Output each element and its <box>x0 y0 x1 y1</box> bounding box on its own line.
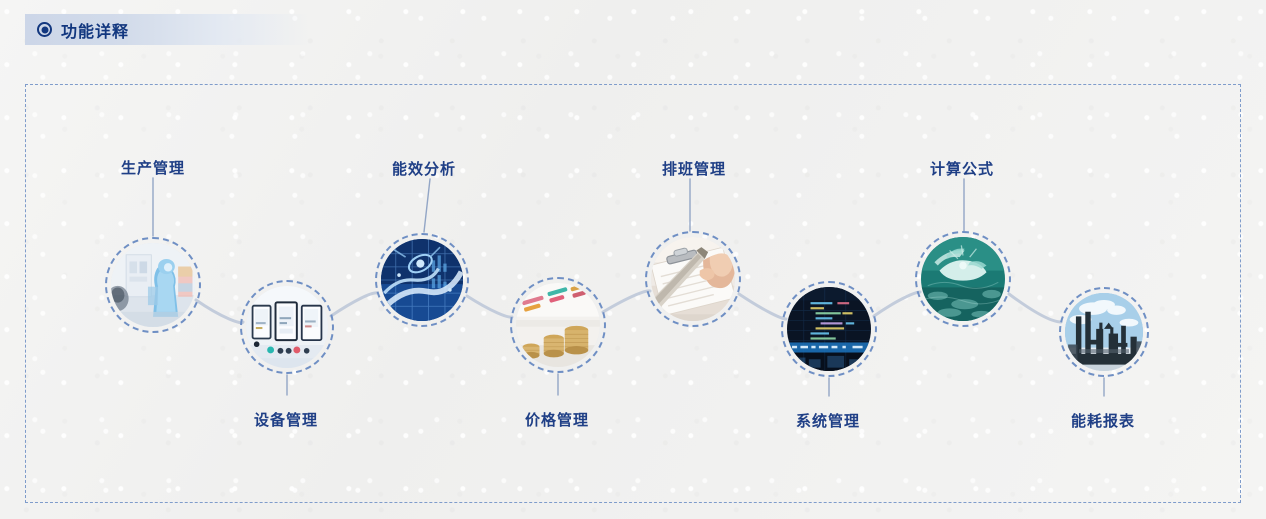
industrial-chimneys-photo <box>1065 293 1143 371</box>
factory-worker-photo <box>111 243 195 327</box>
code-terminal-photo <box>787 287 871 371</box>
node-label-system-management: 系统管理 <box>796 410 860 431</box>
node-label-price-management: 价格管理 <box>525 409 589 430</box>
node-label-equipment-management: 设备管理 <box>254 409 318 430</box>
node-label-production-management: 生产管理 <box>121 157 185 178</box>
node-label-energy-efficiency-analysis: 能效分析 <box>392 158 456 179</box>
flow-node-energy-consumption-report[interactable] <box>1059 287 1149 377</box>
flow-node-equipment-management[interactable] <box>240 280 334 374</box>
aerial-network-photo <box>921 237 1005 321</box>
page-title: 功能详释 <box>61 18 129 42</box>
control-panel-photo <box>246 286 328 368</box>
flow-nodes <box>0 0 1266 519</box>
data-analytics-photo <box>381 239 463 321</box>
flow-node-system-management[interactable] <box>781 281 877 377</box>
flow-node-price-management[interactable] <box>510 277 606 373</box>
flow-node-energy-efficiency-analysis[interactable] <box>375 233 469 327</box>
flow-node-production-management[interactable] <box>105 237 201 333</box>
flow-node-shift-scheduling-management[interactable] <box>645 231 741 327</box>
target-icon <box>37 22 52 37</box>
node-label-calculation-formula: 计算公式 <box>930 158 994 179</box>
node-label-shift-scheduling-management: 排班管理 <box>662 158 726 179</box>
section-header: 功能详释 <box>25 14 129 45</box>
flow-node-calculation-formula[interactable] <box>915 231 1011 327</box>
gold-coins-chart-photo <box>516 283 600 367</box>
node-label-energy-consumption-report: 能耗报表 <box>1071 410 1135 431</box>
clipboard-writing-photo <box>651 237 735 321</box>
